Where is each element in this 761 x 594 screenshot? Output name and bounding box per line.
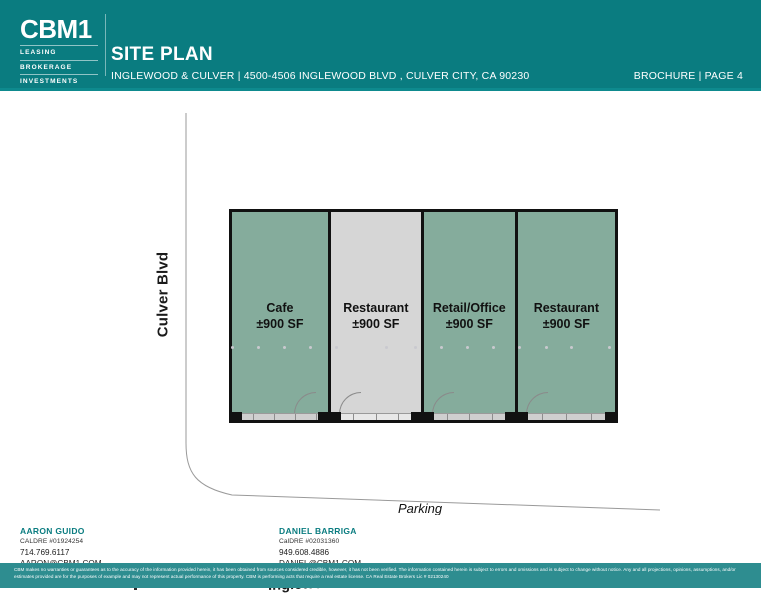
- logo-wordmark: CBM1: [20, 14, 98, 44]
- brochure-page-label: BROCHURE | PAGE 4: [634, 70, 743, 82]
- logo-tagline-investments: INVESTMENTS: [20, 74, 98, 88]
- site-plan-canvas: Culver Blvd Inglewood Blvd Parking Cafe …: [0, 91, 761, 515]
- contact-phone[interactable]: 949.608.4886: [279, 547, 361, 558]
- contact-name: DANIEL BARRIGA: [279, 526, 361, 537]
- logo-tagline-leasing: LEASING: [20, 45, 98, 59]
- contact-phone[interactable]: 714.769.6117: [20, 547, 102, 558]
- page-header: CBM1 LEASING BROKERAGE INVESTMENTS SITE …: [0, 0, 761, 90]
- page-title: SITE PLAN: [111, 44, 213, 66]
- header-divider: [105, 14, 106, 76]
- contact-license: CALDRE #01924254: [20, 537, 102, 547]
- disclaimer-text: CBM makes no warranties or guarantees as…: [14, 566, 747, 580]
- cbm1-logo[interactable]: CBM1 LEASING BROKERAGE INVESTMENTS: [20, 14, 98, 88]
- contact-license: CalDRE #02031360: [279, 537, 361, 547]
- contact-name: AARON GUIDO: [20, 526, 102, 537]
- logo-tagline-brokerage: BROKERAGE: [20, 60, 98, 74]
- disclaimer-bar: CBM makes no warranties or guarantees as…: [0, 563, 761, 588]
- page-subtitle-address: INGLEWOOD & CULVER | 4500-4506 INGLEWOOD…: [111, 70, 529, 82]
- parking-stall-markers: [0, 91, 761, 515]
